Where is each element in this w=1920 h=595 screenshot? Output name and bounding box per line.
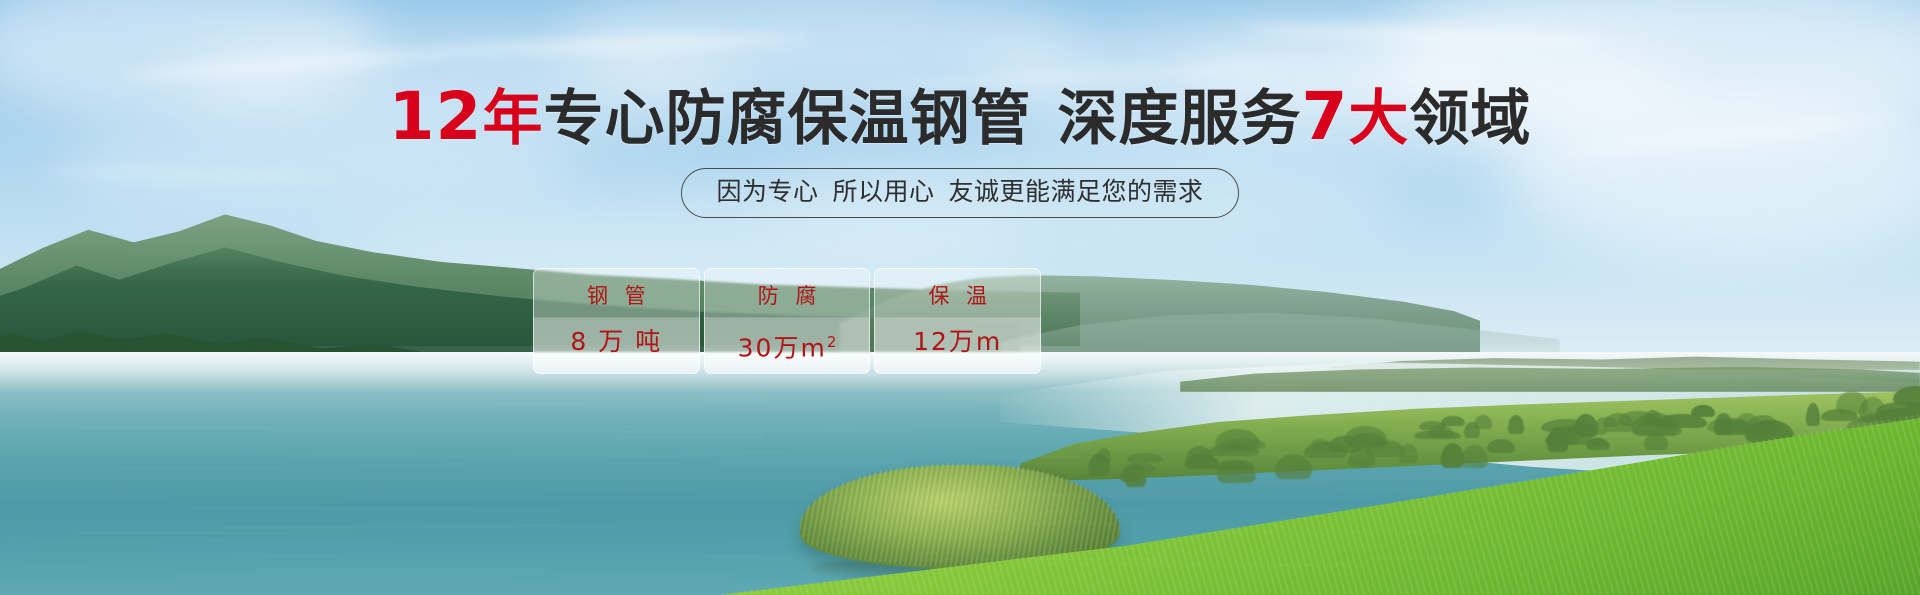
water-ripple [1028,462,1111,464]
water-ripple [1020,445,1161,447]
subtitle-part-2: 所以用心 [832,177,934,206]
stat-card-label: 钢 管 [582,283,651,309]
water-ripple [704,555,879,557]
stat-card-value-superscript: 2 [827,333,837,351]
water-ripple [114,467,283,469]
subtitle-part-1: 因为专心 [716,177,818,206]
marsh-tuft [1586,438,1610,450]
water-ripple [292,454,442,456]
water-ripple [1246,453,1417,455]
water-ripple [1236,403,1309,405]
marsh-tuft [1574,414,1598,437]
water-ripple [717,462,906,464]
water-ripple [1150,414,1417,416]
water-ripple [758,559,952,561]
water-ripple [189,507,477,509]
marsh-tuft [1464,422,1480,438]
water-ripple [981,400,1082,402]
water-ripple [131,360,233,362]
water-ripple [235,555,342,557]
stat-card-value: 30万m2 [738,327,837,363]
headline-fields-first-char: 大 [1348,84,1409,154]
water-ripple [118,528,355,530]
water-ripple [557,575,730,577]
water-ripple [774,501,901,503]
water-ripple [33,543,157,545]
water-ripple [612,437,763,439]
water-ripple [133,552,265,554]
water-ripple [1242,531,1519,533]
water-ripple [107,372,261,374]
water-ripple [323,510,560,512]
marsh-tuft [1549,440,1568,452]
marsh-tuft [1806,403,1820,426]
water-ripple [972,558,1166,560]
water-ripple [619,553,694,555]
marsh-tuft [1127,453,1163,462]
stat-card-value-text: 12万m [913,327,1002,356]
subtitle-part-3: 友诚更能满足您的需求 [949,177,1204,206]
water-ripple [490,404,591,406]
stat-card-steel-pipe: 钢 管 8 万 吨 [533,268,700,374]
water-ripple [723,540,846,542]
headline-fields-text: 领域 [1409,84,1531,154]
water-ripple [206,541,392,543]
water-ripple [947,493,1205,495]
water-ripple [478,452,652,454]
marsh-tuft [1508,415,1524,434]
water-ripple [361,466,465,468]
water-ripple [1369,557,1471,559]
water-ripple [174,500,345,502]
stat-card-label: 防 腐 [753,283,822,309]
water-ripple [836,584,1112,586]
water-ripple [725,410,825,412]
water-ripple [196,460,276,462]
water-ripple [547,489,693,491]
water-ripple [1361,545,1454,547]
water-ripple [620,379,684,381]
water-ripple [76,427,373,429]
water-ripple [358,577,507,579]
marsh-tuft [1734,413,1760,434]
water-ripple [515,519,732,521]
water-ripple [624,431,856,433]
water-ripple [52,408,205,410]
water-ripple [316,450,414,452]
water-ripple [267,430,555,432]
stat-card-value: 8 万 吨 [570,327,662,357]
water-ripple [256,569,542,571]
water-ripple [970,422,1121,424]
water-ripple [861,431,925,433]
marsh-tuft [1441,443,1464,468]
water-ripple [816,426,1108,428]
water-ripple [978,455,1081,457]
water-ripple [486,377,627,379]
water-ripple [1138,564,1361,566]
water-ripple [878,510,1141,512]
water-ripple [1017,471,1315,473]
water-ripple [76,532,287,534]
marsh-tuft [1328,436,1361,453]
water-ripple [703,497,823,499]
water-ripple [512,454,743,456]
water-ripple [441,456,680,458]
water-ripple [1343,490,1453,492]
stat-card-label: 保 温 [923,283,992,309]
stat-card-value-text: 30万m [738,333,827,362]
water-ripple [445,496,559,498]
marsh-tuft [1632,421,1682,436]
water-ripple [1232,481,1332,483]
water-ripple [23,565,90,567]
stat-card-value-text: 8 万 吨 [570,327,662,356]
water-ripple [677,452,788,454]
stat-card-group: 钢 管 8 万 吨 防 腐 30万m2 保 温 12万m [533,268,1041,374]
water-ripple [509,426,717,428]
headline-fields-number: 7 [1301,78,1348,155]
water-ripple [1226,475,1445,477]
water-ripple [1027,522,1140,524]
marsh-tuft [1836,391,1868,414]
water-ripple [24,523,221,525]
water-ripple [470,460,604,462]
promo-banner: 12年专心防腐保温钢管深度服务7大领域 因为专心所以用心友诚更能满足您的需求 钢… [0,0,1920,595]
water-ripple [700,399,769,401]
banner-subtitle-pill: 因为专心所以用心友诚更能满足您的需求 [681,168,1238,218]
headline-years-number: 12 [389,78,483,155]
water-ripple [1378,364,1541,366]
banner-headline: 12年专心防腐保温钢管深度服务7大领域 [0,84,1920,152]
marsh-tuft [1461,445,1488,468]
water-ripple [69,440,281,442]
stat-card-anticorrosion: 防 腐 30万m2 [704,268,871,374]
stat-card-insulation: 保 温 12万m [874,268,1041,374]
water-ripple [9,539,230,541]
water-ripple [1075,418,1344,420]
water-ripple [1366,400,1415,402]
stat-card-value: 12万m [913,327,1002,357]
headline-years-unit: 年 [482,84,543,154]
headline-main-text: 专心防腐保温钢管 [543,84,1031,154]
marsh-tuft [1595,417,1618,427]
headline-service-text: 深度服务 [1057,84,1301,154]
marsh-tuft [1419,421,1446,430]
banner-subtitle-wrap: 因为专心所以用心友诚更能满足您的需求 [0,168,1920,218]
marsh-tuft [1487,439,1515,453]
marsh-tuft [1414,430,1461,439]
water-ripple [92,516,371,518]
